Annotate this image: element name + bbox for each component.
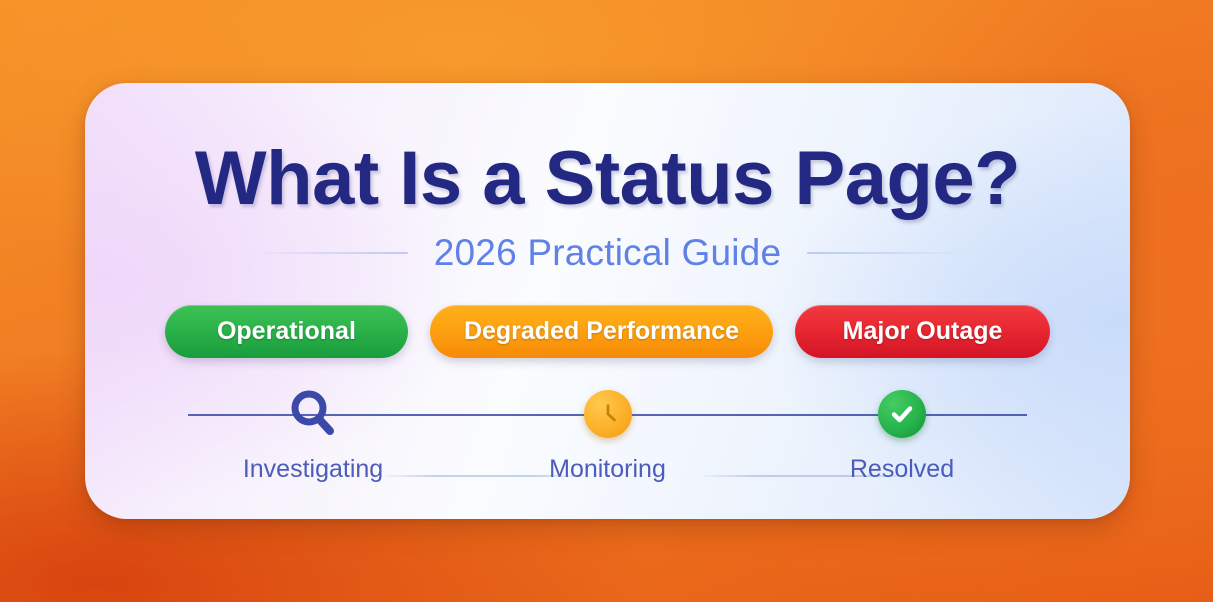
timeline-step-investigating[interactable]: Investigating [188,383,438,484]
timeline-step-monitoring[interactable]: Monitoring [483,383,733,484]
status-pill-row: Operational Degraded Performance Major O… [85,305,1130,358]
check-circle-icon-badge [878,390,926,438]
subtitle-rule-right [807,252,957,254]
status-badge-major-outage[interactable]: Major Outage [795,305,1050,358]
timeline-step-label-monitoring: Monitoring [549,455,666,484]
subtitle-rule-left [258,252,408,254]
incident-timeline: Investigating Monitoring [188,383,1027,493]
clock-icon-badge [584,390,632,438]
clock-icon [577,383,639,445]
hero-card: What Is a Status Page? 2026 Practical Gu… [85,83,1130,519]
timeline-steps: Investigating Monitoring [188,383,1027,484]
timeline-step-label-resolved: Resolved [850,455,954,484]
status-badge-operational[interactable]: Operational [165,305,408,358]
page-title: What Is a Status Page? [85,135,1130,222]
subtitle-row: 2026 Practical Guide [85,231,1130,275]
page-subtitle: 2026 Practical Guide [434,232,781,274]
status-badge-degraded-performance[interactable]: Degraded Performance [430,305,773,358]
check-circle-icon [871,383,933,445]
timeline-step-resolved[interactable]: Resolved [777,383,1027,484]
magnifier-icon [282,383,344,445]
timeline-step-label-investigating: Investigating [243,455,383,484]
